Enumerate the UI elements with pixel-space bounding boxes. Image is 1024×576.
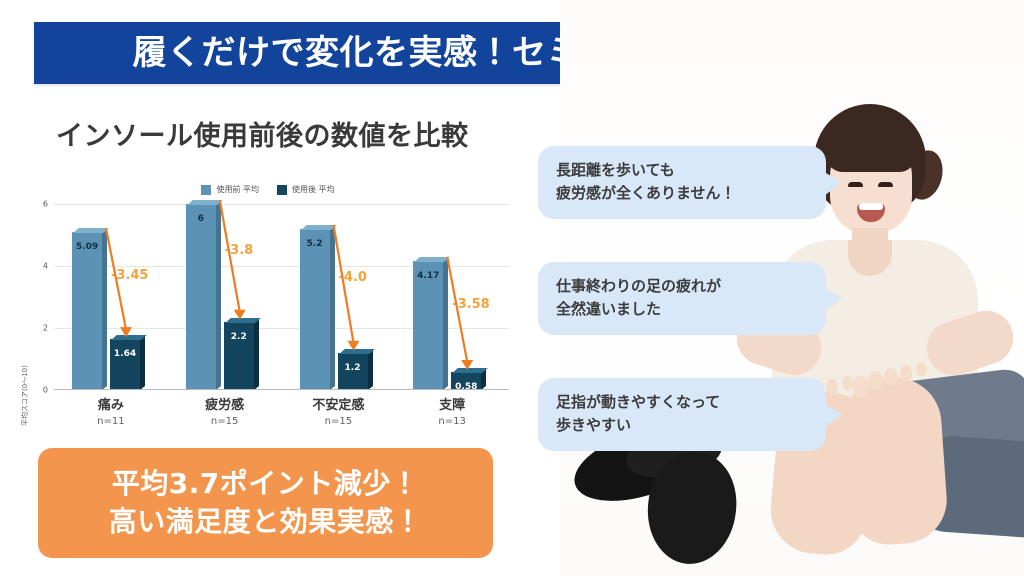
bar-top bbox=[414, 257, 450, 262]
legend-swatch-post bbox=[277, 185, 287, 195]
testimonial-2-line-1: 仕事終わりの足の疲れが bbox=[556, 275, 808, 298]
delta-label: -4.0 bbox=[339, 270, 367, 285]
category-name: 痛み bbox=[54, 394, 168, 413]
x-axis-category: 支障n=13 bbox=[395, 394, 509, 427]
callout-line-2: 高い満足度と効果実感！ bbox=[109, 504, 423, 540]
bubble-tail-icon bbox=[824, 288, 842, 312]
bar-side bbox=[443, 257, 448, 390]
testimonial-3-line-1: 足指が動きやすくなって bbox=[556, 391, 808, 414]
category-sample-size: n=13 bbox=[395, 416, 509, 427]
bar-face bbox=[300, 229, 330, 390]
chart-section-heading: インソール使用前後の数値を比較 bbox=[56, 114, 469, 153]
bar-face bbox=[110, 339, 140, 390]
x-axis-line bbox=[54, 389, 509, 390]
toe bbox=[884, 368, 898, 385]
plot-area: 0246 5.091.64-3.4562.2-3.85.21.2-4.04.17… bbox=[54, 204, 509, 390]
toe bbox=[842, 376, 853, 390]
bubble-tail-icon bbox=[824, 404, 842, 428]
legend-item-pre: 使用前 平均 bbox=[201, 184, 259, 195]
delta-label: -3.45 bbox=[111, 268, 148, 283]
category-name: 疲労感 bbox=[168, 394, 282, 413]
bar-post: 1.2 bbox=[338, 353, 368, 390]
hair-fringe bbox=[826, 130, 916, 172]
x-axis-categories: 痛みn=11疲労感n=15不安定感n=15支障n=13 bbox=[54, 394, 509, 430]
bar-pre: 6 bbox=[186, 204, 216, 390]
category-name: 不安定感 bbox=[282, 394, 396, 413]
bar-side bbox=[254, 318, 259, 390]
y-axis-tick: 4 bbox=[43, 262, 48, 271]
bar-chart: 使用前 平均 使用後 平均 平均スコア(0～10) 0246 5.091.64-… bbox=[8, 176, 528, 428]
bar-pre: 4.17 bbox=[413, 261, 443, 390]
bar-side bbox=[330, 225, 335, 390]
bar-side bbox=[140, 335, 145, 390]
bar-pre: 5.2 bbox=[300, 229, 330, 390]
testimonial-bubble-1: 長距離を歩いても 疲労感が全くありません！ bbox=[538, 146, 826, 219]
bar-top bbox=[73, 228, 109, 233]
category-sample-size: n=11 bbox=[54, 416, 168, 427]
category-sample-size: n=15 bbox=[282, 416, 396, 427]
testimonial-2-line-2: 全然違いました bbox=[556, 298, 808, 321]
legend-label-post: 使用後 平均 bbox=[292, 184, 335, 195]
bar-value-label: 5.09 bbox=[72, 242, 102, 252]
bar-value-label: 1.64 bbox=[110, 349, 140, 359]
delta-label: -3.8 bbox=[225, 243, 253, 258]
bar-value-label: 5.2 bbox=[300, 239, 330, 249]
bar-face bbox=[72, 232, 102, 390]
x-axis-category: 疲労感n=15 bbox=[168, 394, 282, 427]
bar-post: 1.64 bbox=[110, 339, 140, 390]
testimonial-3-line-2: 歩きやすい bbox=[556, 414, 808, 437]
bar-value-label: 0.58 bbox=[451, 382, 481, 392]
slide-root: 履くだけで変化を実感！セミオーダーインソール インソール使用前後の数値を比較 使… bbox=[0, 0, 1024, 576]
summary-callout: 平均3.7ポイント減少！ 高い満足度と効果実感！ bbox=[38, 448, 493, 558]
teeth bbox=[859, 203, 883, 210]
bar-top bbox=[111, 335, 147, 340]
bar-top bbox=[225, 318, 261, 323]
bar-side bbox=[102, 228, 107, 390]
legend-item-post: 使用後 平均 bbox=[277, 184, 335, 195]
bar-post: 2.2 bbox=[224, 322, 254, 390]
bar-post: 0.58 bbox=[451, 372, 481, 390]
bar-top bbox=[339, 349, 375, 354]
toe bbox=[900, 365, 912, 381]
bar-groups: 5.091.64-3.4562.2-3.85.21.2-4.04.170.58-… bbox=[54, 204, 509, 390]
testimonial-1-line-1: 長距離を歩いても bbox=[556, 159, 808, 182]
testimonial-1-line-2: 疲労感が全くありません！ bbox=[556, 182, 808, 205]
y-axis-tick: 0 bbox=[43, 386, 48, 395]
bar-pre: 5.09 bbox=[72, 232, 102, 390]
eye-right bbox=[878, 182, 893, 187]
bar-face bbox=[186, 204, 216, 390]
legend-swatch-pre bbox=[201, 185, 211, 195]
toe bbox=[852, 376, 869, 397]
bar-side bbox=[368, 349, 373, 390]
category-name: 支障 bbox=[395, 394, 509, 413]
bar-value-label: 2.2 bbox=[224, 332, 254, 342]
y-axis-label: 平均スコア(0～10) bbox=[20, 365, 30, 426]
bar-side bbox=[216, 200, 221, 390]
y-axis-tick: 2 bbox=[43, 324, 48, 333]
y-axis-tick: 6 bbox=[43, 200, 48, 209]
bar-top bbox=[301, 225, 337, 230]
callout-line-1: 平均3.7ポイント減少！ bbox=[112, 466, 420, 502]
bar-value-label: 6 bbox=[186, 214, 216, 224]
testimonial-bubble-3: 足指が動きやすくなって 歩きやすい bbox=[538, 378, 826, 451]
bar-value-label: 1.2 bbox=[338, 363, 368, 373]
toe bbox=[916, 362, 927, 376]
bar-value-label: 4.17 bbox=[413, 271, 443, 281]
toe bbox=[826, 379, 838, 395]
delta-label: -3.58 bbox=[452, 297, 489, 312]
legend-label-pre: 使用前 平均 bbox=[216, 184, 259, 195]
bar-top bbox=[187, 200, 223, 205]
bubble-tail-icon bbox=[824, 172, 842, 196]
testimonial-bubble-2: 仕事終わりの足の疲れが 全然違いました bbox=[538, 262, 826, 335]
bar-top bbox=[452, 368, 488, 373]
x-axis-category: 痛みn=11 bbox=[54, 394, 168, 427]
eye-left bbox=[848, 182, 863, 187]
chart-legend: 使用前 平均 使用後 平均 bbox=[8, 184, 528, 195]
bare-foot-right bbox=[840, 375, 949, 547]
x-axis-category: 不安定感n=15 bbox=[282, 394, 396, 427]
category-sample-size: n=15 bbox=[168, 416, 282, 427]
